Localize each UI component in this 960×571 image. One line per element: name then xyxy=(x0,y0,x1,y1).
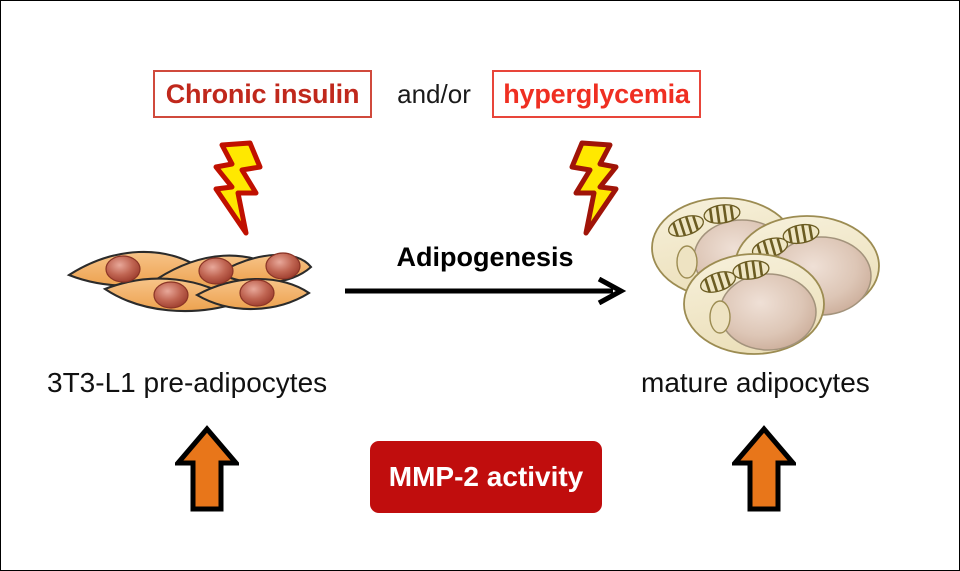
mmp2-activity-label: MMP-2 activity xyxy=(389,461,584,493)
figure-canvas: Chronic insulin and/or hyperglycemia xyxy=(0,0,960,571)
stimulus-label-hyperglycemia: hyperglycemia xyxy=(503,79,690,110)
stimulus-label-chronic-insulin: Chronic insulin xyxy=(166,79,360,110)
preadipocyte-spindle-cells-icon xyxy=(61,233,315,323)
lightning-bolt-icon xyxy=(194,137,266,239)
up-arrow-icon xyxy=(175,425,239,513)
lightning-bolt-icon xyxy=(566,137,638,239)
adipocyte-cell xyxy=(684,254,824,354)
stimulus-box-chronic-insulin: Chronic insulin xyxy=(153,70,372,118)
stimulus-box-hyperglycemia: hyperglycemia xyxy=(492,70,701,118)
stimulus-connector-label: and/or xyxy=(379,70,489,118)
adipogenesis-arrow-icon xyxy=(341,277,631,305)
up-arrow-icon xyxy=(732,425,796,513)
caption-mature-adipocytes: mature adipocytes xyxy=(641,363,941,403)
mmp2-activity-box: MMP-2 activity xyxy=(370,441,602,513)
caption-preadipocytes: 3T3-L1 pre-adipocytes xyxy=(47,363,367,403)
adipogenesis-label: Adipogenesis xyxy=(345,240,625,274)
mature-adipocyte-lipid-droplet-cells-icon xyxy=(646,186,884,366)
